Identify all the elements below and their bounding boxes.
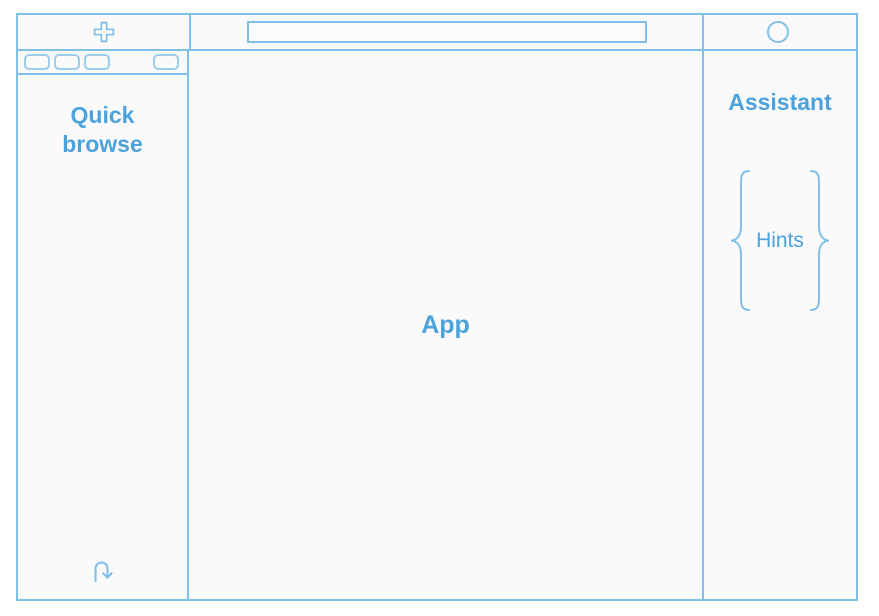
- left-curly-brace-icon: [728, 168, 754, 313]
- assistant-title: Assistant: [728, 89, 832, 116]
- app-label: App: [421, 311, 470, 340]
- account-button[interactable]: [704, 15, 856, 49]
- screenshot-canvas: Quick browse App Assistant: [0, 0, 879, 616]
- tab-chip-1[interactable]: [24, 54, 50, 70]
- hints-group: Hints: [710, 168, 850, 313]
- tab-chip-4[interactable]: [153, 54, 179, 70]
- window-body: Quick browse App Assistant: [18, 51, 856, 599]
- u-turn-arrow-icon[interactable]: [88, 555, 118, 585]
- plus-icon: [93, 21, 115, 43]
- tab-chip-3[interactable]: [84, 54, 110, 70]
- tab-strip: [18, 51, 187, 75]
- address-bar-container: [191, 15, 704, 49]
- new-tab-button[interactable]: [18, 15, 191, 49]
- circle-avatar-icon: [767, 21, 789, 43]
- quick-browse-panel: Quick browse: [18, 51, 189, 599]
- hints-label: Hints: [754, 229, 806, 253]
- quick-browse-title: Quick browse: [43, 101, 163, 159]
- browser-toolbar: [18, 15, 856, 51]
- browser-window: Quick browse App Assistant: [16, 13, 858, 601]
- tab-chip-2[interactable]: [54, 54, 80, 70]
- right-curly-brace-icon: [806, 168, 832, 313]
- quick-browse-content: Quick browse: [18, 75, 187, 599]
- app-panel: App: [189, 51, 704, 599]
- address-input[interactable]: [247, 21, 647, 43]
- assistant-panel: Assistant Hints: [704, 51, 856, 599]
